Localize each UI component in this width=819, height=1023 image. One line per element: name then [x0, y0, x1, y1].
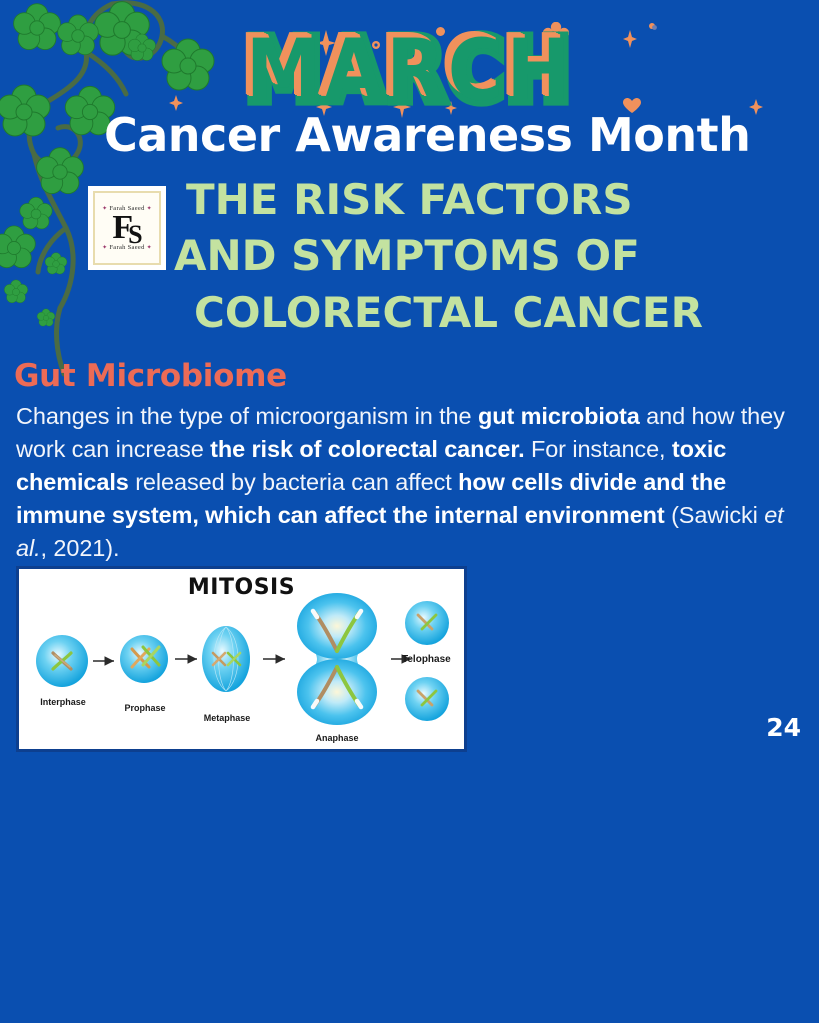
- phase-label-prophase: Prophase: [109, 703, 181, 713]
- logo-dot-icon: ✦: [147, 245, 152, 251]
- subtitle-line-1: THE RISK FACTORS: [170, 172, 810, 228]
- page-subtitle: THE RISK FACTORS AND SYMPTOMS OF COLOREC…: [170, 172, 810, 341]
- logo-dot-icon: ✦: [147, 206, 152, 212]
- subtitle-line-2: AND SYMPTOMS OF: [170, 228, 810, 284]
- monogram-s: S: [128, 220, 139, 249]
- brand-logo: ✦ Farah Saeed ✦ FS ✦ Farah Saeed ✦: [88, 186, 166, 270]
- subtitle-line-3: COLORECTAL CANCER: [170, 285, 810, 341]
- phase-label-interphase: Interphase: [27, 697, 99, 707]
- phase-label-anaphase: Anaphase: [301, 733, 373, 743]
- brand-logo-bottom-text: ✦ Farah Saeed ✦: [102, 244, 152, 251]
- logo-dot-icon: ✦: [102, 206, 107, 212]
- slide-canvas: MARCH Cancer Awareness Month ✦ Farah Sae…: [0, 0, 819, 1023]
- mitosis-figure: MITOSIS: [16, 566, 467, 752]
- phase-label-telophase: Telophase: [402, 654, 467, 665]
- brand-monogram: FS: [112, 213, 141, 244]
- page-title: Cancer Awareness Month: [104, 108, 819, 162]
- body-paragraph: Changes in the type of microorganism in …: [16, 400, 806, 565]
- phase-label-metaphase: Metaphase: [191, 713, 263, 723]
- month-wordmark: MARCH: [0, 4, 819, 112]
- brand-logo-frame: ✦ Farah Saeed ✦ FS ✦ Farah Saeed ✦: [93, 191, 161, 265]
- logo-dot-icon: ✦: [102, 245, 107, 251]
- section-heading: Gut Microbiome: [14, 358, 287, 394]
- month-wordmark-text: MARCH: [246, 20, 573, 120]
- page-number: 24: [766, 713, 801, 742]
